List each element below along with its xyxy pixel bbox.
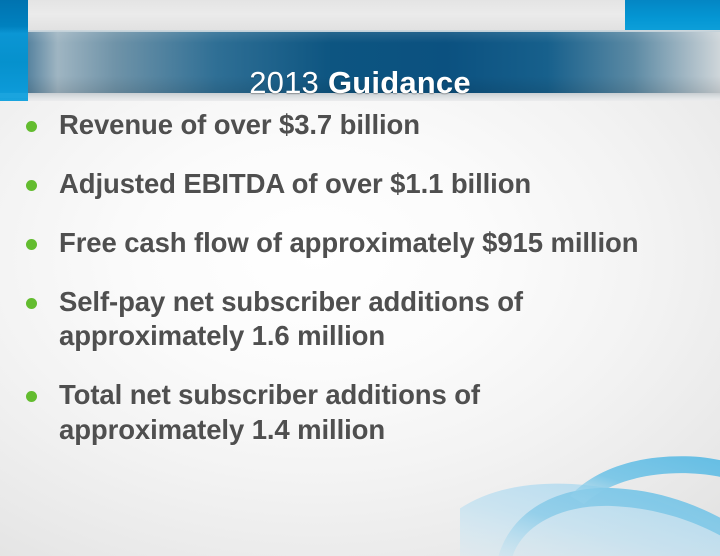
- bullet-dot-icon: [26, 391, 37, 402]
- list-item: Adjusted EBITDA of over $1.1 billion: [0, 167, 720, 201]
- bullet-dot-icon: [26, 180, 37, 191]
- header-upper-band: [0, 0, 720, 32]
- list-item-label: Free cash flow of approximately $915 mil…: [59, 226, 659, 260]
- slide-header: 2013Guidance: [0, 0, 720, 101]
- title-year: 2013: [249, 65, 319, 101]
- bullet-dot-icon: [26, 298, 37, 309]
- list-item: Revenue of over $3.7 billion: [0, 108, 720, 142]
- bullet-dot-icon: [26, 121, 37, 132]
- bullet-dot-icon: [26, 239, 37, 250]
- title-word: Guidance: [328, 65, 471, 101]
- header-accent-block-right: [625, 0, 720, 32]
- list-item: Free cash flow of approximately $915 mil…: [0, 226, 720, 260]
- presentation-slide: 2013Guidance Revenue of over $3.7 billio…: [0, 0, 720, 556]
- list-item-label: Total net subscriber additions of approx…: [59, 378, 659, 446]
- list-item-label: Revenue of over $3.7 billion: [59, 108, 659, 142]
- list-item: Total net subscriber additions of approx…: [0, 378, 720, 446]
- bullet-list: Revenue of over $3.7 billion Adjusted EB…: [0, 108, 720, 472]
- list-item-label: Adjusted EBITDA of over $1.1 billion: [59, 167, 659, 201]
- page-title: 2013Guidance: [0, 53, 720, 114]
- list-item: Self-pay net subscriber additions of app…: [0, 285, 720, 353]
- list-item-label: Self-pay net subscriber additions of app…: [59, 285, 659, 353]
